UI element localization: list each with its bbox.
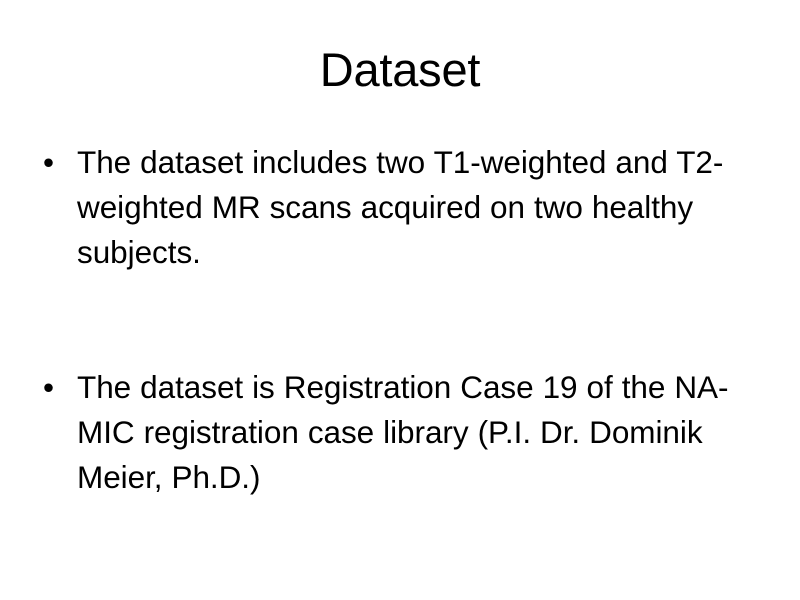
bullet-point-icon: •: [43, 365, 61, 410]
page-title: Dataset: [0, 42, 800, 98]
list-item-text: The dataset includes two T1-weighted and…: [77, 140, 749, 275]
list-item-text: The dataset is Registration Case 19 of t…: [77, 365, 749, 500]
list-item: • The dataset includes two T1-weighted a…: [40, 140, 760, 275]
paragraph-spacer: [40, 275, 760, 365]
bullet-point-icon: •: [43, 140, 61, 185]
slide-body-content: • The dataset includes two T1-weighted a…: [40, 140, 760, 500]
presentation-slide: Dataset • The dataset includes two T1-we…: [0, 0, 800, 600]
list-item: • The dataset is Registration Case 19 of…: [40, 365, 760, 500]
